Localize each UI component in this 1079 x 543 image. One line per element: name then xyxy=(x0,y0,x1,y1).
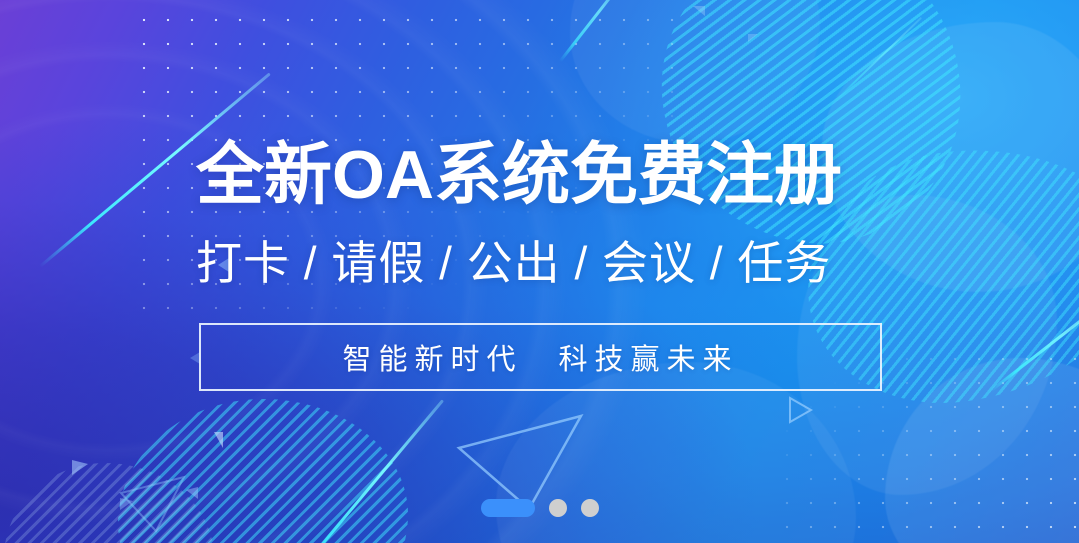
carousel-dot-2[interactable] xyxy=(549,499,567,517)
banner-content: 全新OA系统免费注册 打卡 / 请假 / 公出 / 会议 / 任务 智能新时代 … xyxy=(0,0,1079,543)
promo-banner: 全新OA系统免费注册 打卡 / 请假 / 公出 / 会议 / 任务 智能新时代 … xyxy=(0,0,1079,543)
carousel-indicators[interactable] xyxy=(0,499,1079,517)
banner-subheadline: 打卡 / 请假 / 公出 / 会议 / 任务 xyxy=(196,240,831,286)
tagline-text: 智能新时代 科技赢未来 xyxy=(342,336,738,378)
carousel-dot-1[interactable] xyxy=(481,499,535,517)
banner-headline: 全新OA系统免费注册 xyxy=(196,141,842,209)
carousel-dot-3[interactable] xyxy=(581,499,599,517)
tagline-box: 智能新时代 科技赢未来 xyxy=(199,323,882,391)
